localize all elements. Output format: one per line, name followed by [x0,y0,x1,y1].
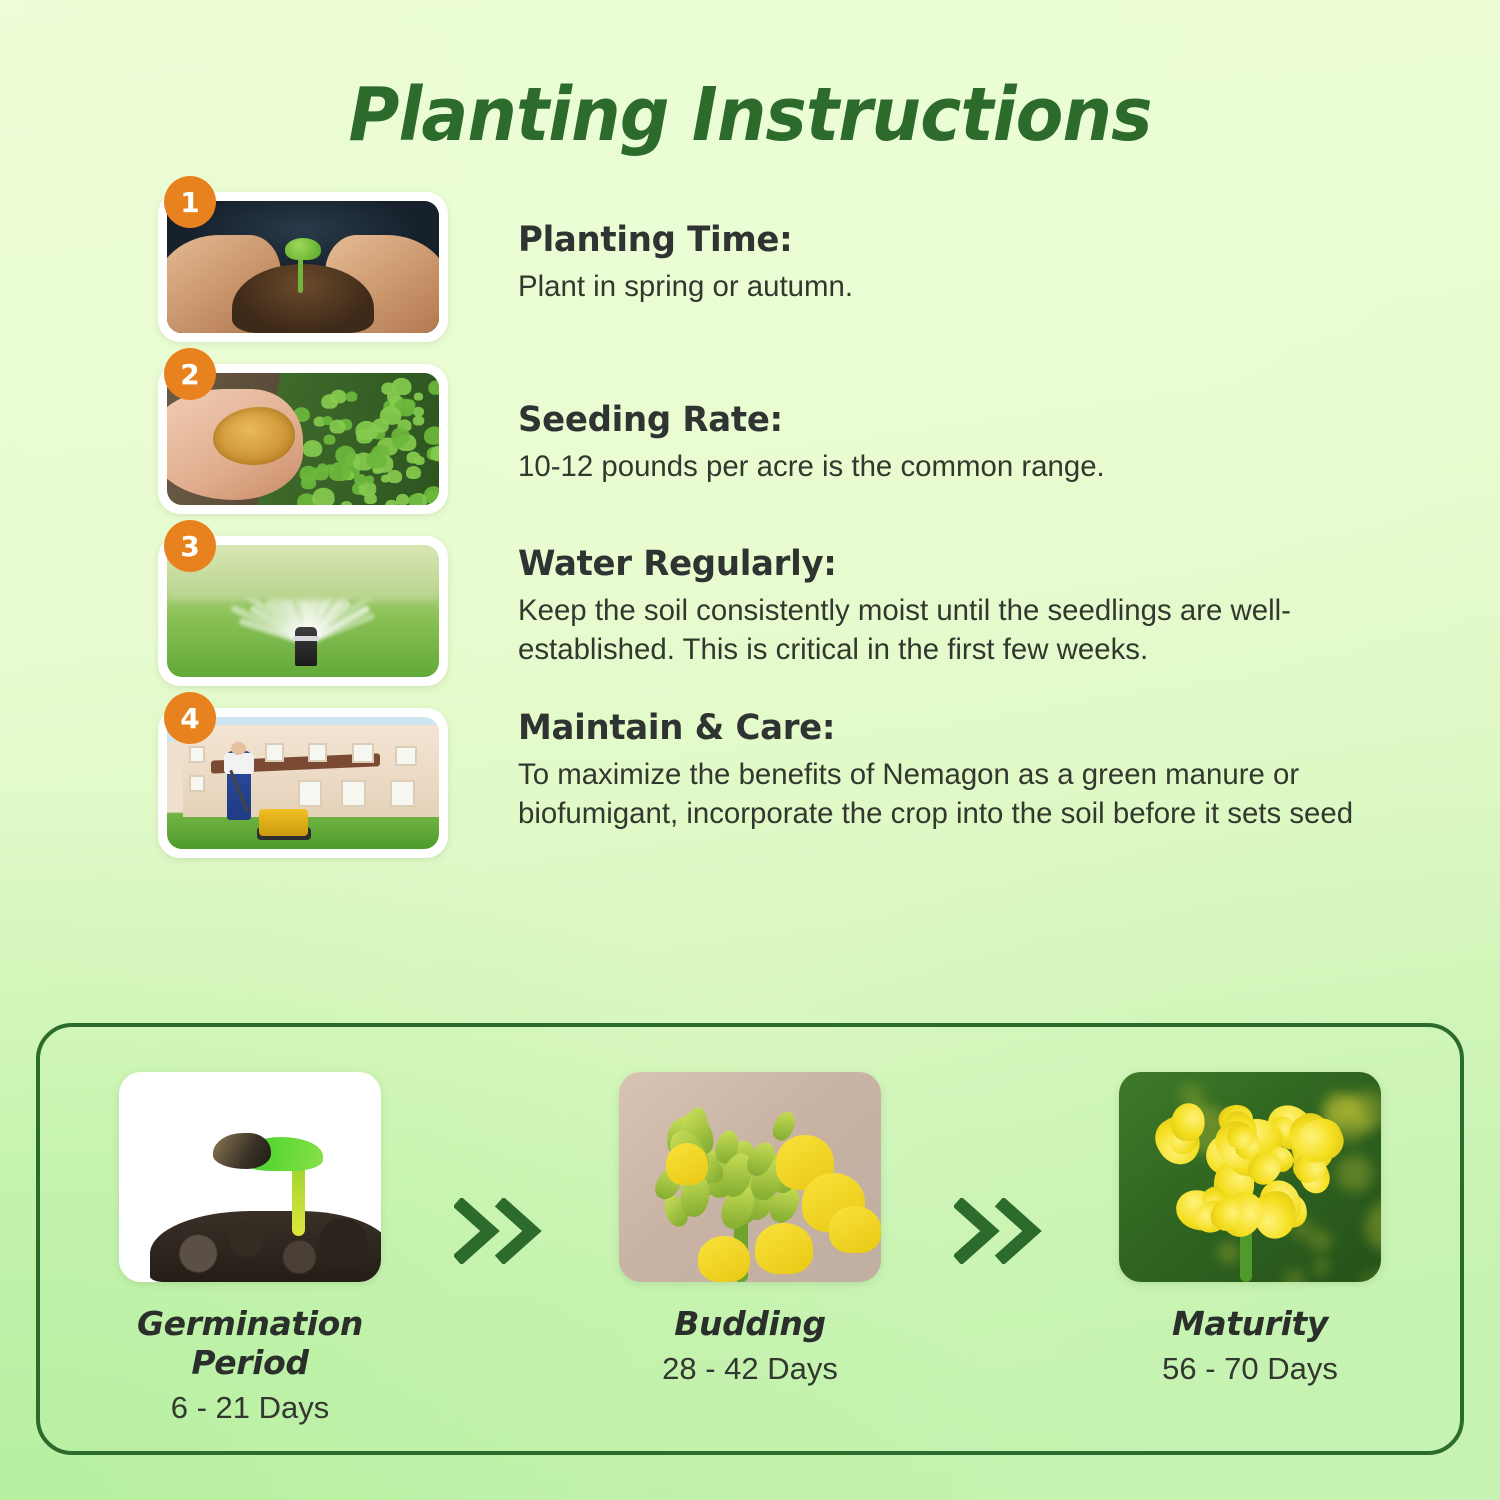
planting-instructions-infographic: Planting Instructions 1 [0,0,1500,1500]
timeline-germination-days: 6 - 21 Days [100,1390,400,1426]
step-1-thumbnail-wrap: 1 [158,192,458,342]
step-1-heading: Planting Time: [518,220,1471,260]
step-1-number-badge: 1 [164,176,216,228]
step-3-thumbnail-wrap: 3 [158,536,458,686]
step-4-text: Maintain & Care: To maximize the benefit… [458,708,1500,833]
step-1-text: Planting Time: Plant in spring or autumn… [458,192,1500,306]
timeline-maturity-days: 56 - 70 Days [1100,1351,1400,1387]
step-item-2: 2 Seeding Rate: 10-12 pounds per acre is… [0,364,1500,514]
step-2-heading: Seeding Rate: [518,400,1471,440]
step-item-3: 3 Water Regularly: Keep the soil consist… [0,536,1500,686]
timeline-stage-germination: Germination Period 6 - 21 Days [100,1072,400,1426]
step-2-number-badge: 2 [164,348,216,400]
timeline-maturity-label: Maturity [1100,1304,1400,1343]
yellow-mustard-flowers-bloom-image [1119,1072,1381,1282]
timeline-budding-label: Budding [600,1304,900,1343]
growth-timeline-row: Germination Period 6 - 21 Days Budding 2 [40,1027,1460,1451]
step-4-thumbnail-wrap: 4 [158,708,458,858]
step-4-number-badge: 4 [164,692,216,744]
timeline-germination-label: Germination Period [100,1304,400,1382]
step-4-heading: Maintain & Care: [518,708,1471,748]
step-2-body: 10-12 pounds per acre is the common rang… [518,447,1429,486]
timeline-stage-maturity: Maturity 56 - 70 Days [1100,1072,1400,1387]
timeline-budding-days: 28 - 42 Days [600,1351,900,1387]
step-3-number-badge: 3 [164,520,216,572]
flower-buds-closeup-image [619,1072,881,1282]
step-item-1: 1 Planting Time: Plant in spr [0,192,1500,342]
step-item-4: 4 [0,708,1500,858]
step-3-body: Keep the soil consistently moist until t… [518,591,1429,669]
step-2-thumbnail-wrap: 2 [158,364,458,514]
steps-list: 1 Planting Time: Plant in spr [0,192,1500,858]
growth-timeline-panel: Germination Period 6 - 21 Days Budding 2 [36,1023,1464,1455]
timeline-stage-budding: Budding 28 - 42 Days [600,1072,900,1387]
step-3-heading: Water Regularly: [518,544,1471,584]
double-chevron-right-icon [454,1198,546,1264]
double-chevron-right-icon-2 [954,1198,1046,1264]
step-2-text: Seeding Rate: 10-12 pounds per acre is t… [458,364,1500,486]
germinating-seed-sprout-image [119,1072,381,1282]
step-3-text: Water Regularly: Keep the soil consisten… [458,536,1500,669]
page-title: Planting Instructions [45,0,1455,152]
step-1-body: Plant in spring or autumn. [518,267,1429,306]
step-4-body: To maximize the benefits of Nemagon as a… [518,755,1429,833]
